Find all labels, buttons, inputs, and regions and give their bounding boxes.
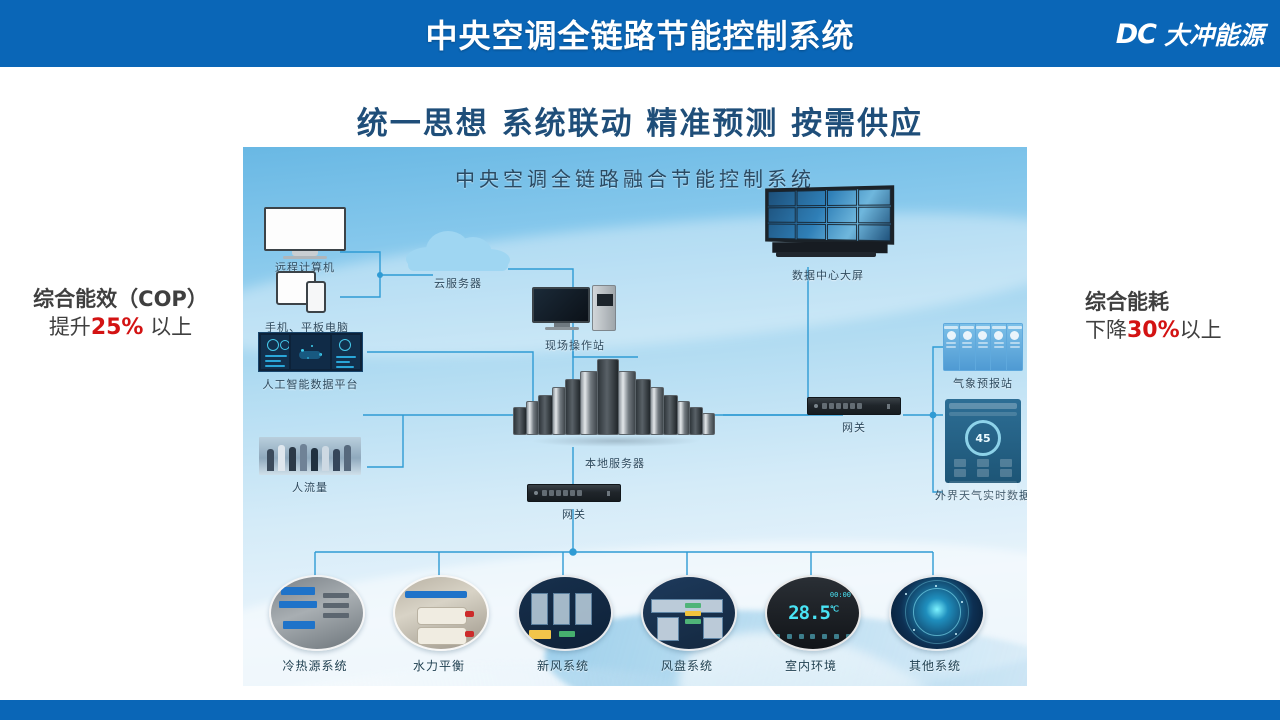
- callout-left: 综合能效（COP） 提升25% 以上: [8, 285, 233, 343]
- callout-left-prefix: 提升: [49, 315, 91, 339]
- callout-right-value: 下降30%以上: [1085, 316, 1280, 346]
- architecture-diagram: 中央空调全链路融合节能控制系统: [243, 147, 1027, 686]
- footer-bar: [0, 700, 1280, 720]
- page-title: 中央空调全链路节能控制系统: [0, 0, 1280, 67]
- subsystem-cold-heat-source[interactable]: 冷热源系统: [269, 575, 361, 674]
- dashboard-icon: [258, 332, 363, 372]
- fresh-air-icon: [517, 575, 613, 651]
- phone-tablet-icon: [276, 271, 338, 315]
- video-wall-icon: [760, 187, 896, 263]
- node-mobile-tablet[interactable]: 手机、平板电脑: [257, 271, 357, 335]
- callout-left-value: 提升25% 以上: [8, 313, 233, 343]
- other-systems-icon: [889, 575, 985, 651]
- dashboard-cell: [332, 335, 360, 369]
- callout-right: 综合能耗 下降30%以上: [1085, 288, 1280, 346]
- subsystem-indoor-environment[interactable]: 00:00 28.5℃ 室内环境: [765, 575, 857, 674]
- callout-right-highlight: 30%: [1127, 318, 1180, 343]
- node-gateway-bottom[interactable]: 网关: [519, 484, 629, 522]
- callout-right-title: 综合能耗: [1085, 288, 1280, 316]
- subsystem-label: 水力平衡: [393, 657, 485, 674]
- logo-name: 大冲能源: [1164, 16, 1264, 52]
- logo-mark: DC: [1116, 19, 1156, 50]
- node-label-weather-station: 气象预报站: [933, 375, 1027, 391]
- monitor-icon: [264, 207, 346, 255]
- workstation-icon: [532, 285, 618, 333]
- subsystem-label: 新风系统: [517, 657, 609, 674]
- subsystem-label: 风盘系统: [641, 657, 733, 674]
- node-workstation[interactable]: 现场操作站: [530, 285, 620, 353]
- people-flow-icon: [259, 437, 361, 475]
- node-label-gateway-right: 网关: [799, 419, 909, 435]
- weather-app-icon: 45: [945, 399, 1021, 483]
- forecast-strip-icon: [943, 323, 1023, 371]
- subsystem-fan-coil[interactable]: 风盘系统: [641, 575, 733, 674]
- brand-logo: DC 大冲能源: [1116, 17, 1264, 51]
- node-label-gateway-bottom: 网关: [519, 506, 629, 522]
- node-label-local-server: 本地服务器: [509, 455, 721, 471]
- dashboard-cell: [261, 335, 289, 369]
- node-gateway-right[interactable]: 网关: [799, 397, 909, 435]
- node-label-people-flow: 人流量: [255, 479, 365, 495]
- thermostat-temperature: 28.5℃: [788, 602, 838, 624]
- node-weather-realtime[interactable]: 45 外界天气实时数据: [919, 399, 1027, 503]
- node-remote-computer[interactable]: 远程计算机: [255, 207, 355, 275]
- callout-left-highlight: 25%: [91, 315, 144, 340]
- node-label-data-center-screen: 数据中心大屏: [753, 267, 903, 283]
- callout-right-suffix: 以上: [1180, 318, 1222, 342]
- node-label-ai-data-platform: 人工智能数据平台: [253, 376, 368, 392]
- callout-left-suffix: 以上: [143, 315, 192, 339]
- thermostat-icon: 00:00 28.5℃: [765, 575, 861, 651]
- header-bar: 中央空调全链路节能控制系统 DC 大冲能源: [0, 0, 1280, 67]
- node-people-flow[interactable]: 人流量: [255, 437, 365, 495]
- node-ai-data-platform[interactable]: 人工智能数据平台: [253, 332, 368, 392]
- subsystem-hydraulic-balance[interactable]: 水力平衡: [393, 575, 485, 674]
- subsystem-label: 冷热源系统: [269, 657, 361, 674]
- cold-heat-source-icon: [269, 575, 365, 651]
- subtitle: 统一思想 系统联动 精准预测 按需供应: [0, 98, 1280, 143]
- callout-left-title: 综合能效（COP）: [8, 285, 233, 313]
- node-local-server[interactable]: 本地服务器: [509, 359, 721, 471]
- callout-right-prefix: 下降: [1085, 318, 1127, 342]
- weather-gauge: 45: [965, 420, 1001, 456]
- subsystem-label: 其他系统: [889, 657, 981, 674]
- weather-app-header: [949, 403, 1017, 409]
- node-cloud-server[interactable]: 云服务器: [403, 229, 513, 291]
- node-data-center-screen[interactable]: 数据中心大屏: [753, 187, 903, 283]
- node-weather-station[interactable]: 气象预报站: [933, 323, 1027, 391]
- gateway-icon: [807, 397, 901, 415]
- gateway-icon: [527, 484, 621, 502]
- subsystem-fresh-air[interactable]: 新风系统: [517, 575, 609, 674]
- node-label-workstation: 现场操作站: [530, 337, 620, 353]
- subsystem-other[interactable]: 其他系统: [889, 575, 981, 674]
- thermostat-clock: 00:00: [830, 591, 851, 599]
- dashboard-cell: [291, 335, 329, 369]
- hydraulic-balance-icon: [393, 575, 489, 651]
- subsystem-label: 室内环境: [765, 657, 857, 674]
- node-label-cloud-server: 云服务器: [403, 275, 513, 291]
- server-cluster-icon: [511, 359, 719, 451]
- fan-coil-icon: [641, 575, 737, 651]
- cloud-icon: [406, 229, 510, 271]
